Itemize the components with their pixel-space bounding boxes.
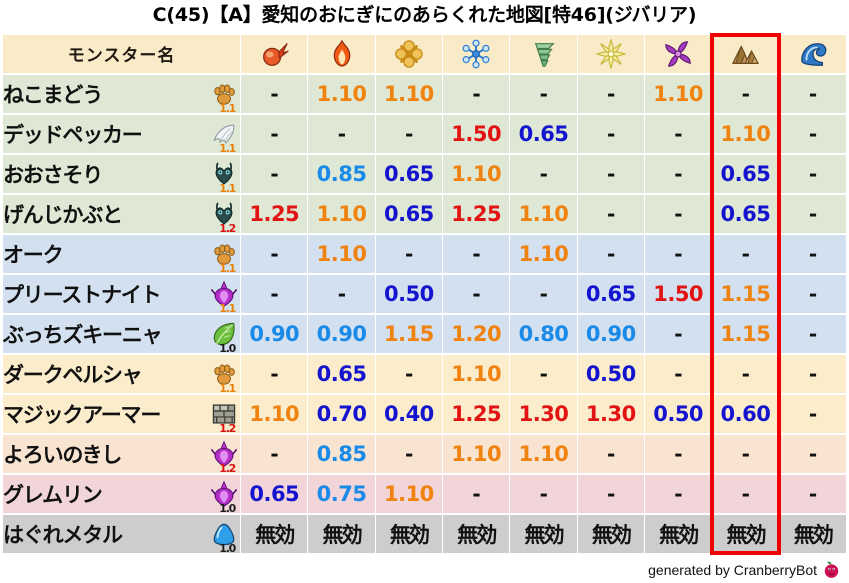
table-row: げんじかぶと1.21.251.100.651.251.10--0.65- [3,195,846,233]
table-row: デッドペッカー1.1---1.500.65--1.10- [3,115,846,153]
header-element-dorma[interactable] [645,35,711,73]
cell-jiwa: - [780,75,846,113]
lightburst-icon-wrap [578,35,644,73]
cell-gira: 0.85 [308,435,374,473]
monster-name-label: ぶっちズキーニャ [3,319,161,349]
table-row: マジックアーマー1.21.100.700.401.251.301.300.500… [3,395,846,433]
cell-jibaria: 0.65 [712,195,778,233]
cell-io: - [376,435,442,473]
darkspin-icon-wrap [645,35,711,73]
cell-gira: - [308,275,374,313]
cell-hyado: 無効 [443,515,509,553]
cell-dorma: 0.50 [645,395,711,433]
cell-io: - [376,115,442,153]
monster-family-badge: 1.1 [191,355,237,393]
cell-dorma: - [645,195,711,233]
monster-name-cell[interactable]: グレムリン1.0 [3,475,240,513]
cell-gira: 0.70 [308,395,374,433]
cell-jiwa: 無効 [780,515,846,553]
cell-jiwa: - [780,195,846,233]
monster-multiplier: 1.2 [219,223,235,233]
cell-jiwa: - [780,475,846,513]
cell-jibaria: - [712,435,778,473]
cell-jiwa: - [780,155,846,193]
wave-icon-wrap [780,35,846,73]
cell-dein: 無効 [578,515,644,553]
header-element-mera[interactable] [241,35,307,73]
cell-hyado: - [443,475,509,513]
cell-jiwa: - [780,235,846,273]
cell-hyado: 1.20 [443,315,509,353]
cell-mera: 1.25 [241,195,307,233]
monster-name-cell[interactable]: ぶっちズキーニャ1.0 [3,315,240,353]
cell-bagi: 無効 [510,515,576,553]
table-row: よろいのきし1.2-0.85-1.101.10---- [3,435,846,473]
cell-gira: 0.90 [308,315,374,353]
cell-bagi: 1.10 [510,435,576,473]
cell-gira: 1.10 [308,235,374,273]
monster-multiplier: 1.1 [219,143,235,153]
cell-dein: - [578,155,644,193]
monster-family-badge: 1.1 [191,115,237,153]
cell-dorma: 1.50 [645,275,711,313]
cell-hyado: - [443,275,509,313]
header-element-jibaria[interactable] [712,35,778,73]
cell-hyado: 1.25 [443,195,509,233]
monster-name-cell[interactable]: ねこまどう1.1 [3,75,240,113]
monster-family-badge: 1.1 [191,75,237,113]
cell-mera: - [241,275,307,313]
cell-jiwa: - [780,355,846,393]
cell-bagi: - [510,155,576,193]
cell-jibaria: - [712,235,778,273]
monster-name-label: オーク [3,239,62,269]
monster-family-badge: 1.1 [191,155,237,193]
monster-multiplier: 1.1 [219,303,235,313]
page-title: C(45)【A】愛知のおにぎにのあらくれた地図[特46](ジバリア) [0,0,849,33]
cell-io: 0.65 [376,195,442,233]
cell-jibaria: 1.15 [712,275,778,313]
mountain-icon [730,39,760,69]
monster-family-badge: 1.0 [191,475,237,513]
cell-jibaria: 1.10 [712,115,778,153]
monster-name-label: デッドペッカー [3,119,142,149]
cell-gira: 0.75 [308,475,374,513]
monster-name-label: ねこまどう [3,79,102,109]
monster-multiplier: 1.0 [219,343,235,353]
cell-hyado: 1.10 [443,155,509,193]
mountain-icon-wrap [712,35,778,73]
cell-dorma: - [645,155,711,193]
explosion-icon [394,39,424,69]
cell-gira: 0.65 [308,355,374,393]
monster-multiplier: 1.2 [219,463,235,473]
cell-dorma: - [645,315,711,353]
monster-name-label: ダークペルシャ [3,359,142,389]
cell-io: - [376,355,442,393]
cell-jibaria: 無効 [712,515,778,553]
flame-icon [327,39,357,69]
table-row: おおさそり1.1-0.850.651.10---0.65- [3,155,846,193]
cell-dorma: - [645,475,711,513]
cell-gira: - [308,115,374,153]
cell-dorma: - [645,115,711,153]
cell-bagi: - [510,355,576,393]
flame-icon-wrap [308,35,374,73]
cell-hyado: - [443,75,509,113]
cell-hyado: 1.50 [443,115,509,153]
cell-io: 0.50 [376,275,442,313]
monster-multiplier: 1.1 [219,383,235,393]
cell-jiwa: - [780,115,846,153]
darkspin-icon [663,39,693,69]
cell-bagi: 1.30 [510,395,576,433]
table-row: ぶっちズキーニャ1.00.900.901.151.200.800.90-1.15… [3,315,846,353]
cell-jibaria: - [712,355,778,393]
table-row: はぐれメタル1.0無効無効無効無効無効無効無効無効無効 [3,515,846,553]
cell-jibaria: 0.65 [712,155,778,193]
table-row: ねこまどう1.1-1.101.10---1.10-- [3,75,846,113]
cell-io: 0.40 [376,395,442,433]
footer-text: generated by CranberryBot [648,562,817,578]
monster-family-badge: 1.0 [191,315,237,353]
cell-dein: 1.30 [578,395,644,433]
table-row: グレムリン1.00.650.751.10------ [3,475,846,513]
table-body: ねこまどう1.1-1.101.10---1.10--デッドペッカー1.1---1… [3,75,846,553]
cell-gira: 1.10 [308,195,374,233]
cranberry-icon [822,560,841,579]
header-element-hyado[interactable] [443,35,509,73]
snowflake-icon-wrap [443,35,509,73]
cell-dein: - [578,435,644,473]
header-monster-name: モンスター名 [3,35,240,73]
cell-bagi: - [510,275,576,313]
monster-family-badge: 1.2 [191,395,237,433]
cell-dein: - [578,475,644,513]
cell-jibaria: - [712,475,778,513]
table-header-row: モンスター名 [3,35,846,73]
monster-family-badge: 1.2 [191,435,237,473]
monster-name-cell[interactable]: デッドペッカー1.1 [3,115,240,153]
cell-gira: 0.85 [308,155,374,193]
explosion-icon-wrap [376,35,442,73]
cell-bagi: 0.80 [510,315,576,353]
monster-name-label: グレムリン [3,479,102,509]
cell-bagi: - [510,475,576,513]
cell-jiwa: - [780,395,846,433]
cell-jibaria: 1.15 [712,315,778,353]
cell-io: 1.15 [376,315,442,353]
cell-bagi: - [510,75,576,113]
monster-multiplier: 1.0 [219,543,235,553]
monster-name-cell[interactable]: プリーストナイト1.1 [3,275,240,313]
cell-hyado: 1.10 [443,435,509,473]
cell-dein: - [578,115,644,153]
monster-name-label: おおさそり [3,159,102,189]
monster-name-cell[interactable]: よろいのきし1.2 [3,435,240,473]
monster-family-badge: 1.0 [191,515,237,553]
cell-mera: 0.65 [241,475,307,513]
cell-bagi: 1.10 [510,235,576,273]
cell-dein: - [578,75,644,113]
cell-io: - [376,235,442,273]
cell-bagi: 0.65 [510,115,576,153]
cell-dorma: 1.10 [645,75,711,113]
cell-dein: 0.65 [578,275,644,313]
table-row: オーク1.1-1.10--1.10---- [3,235,846,273]
cell-mera: - [241,155,307,193]
monster-family-badge: 1.2 [191,195,237,233]
cell-mera: 無効 [241,515,307,553]
lightburst-icon [596,39,626,69]
table-row: ダークペルシャ1.1-0.65-1.10-0.50--- [3,355,846,393]
snowflake-icon [461,39,491,69]
cell-jiwa: - [780,275,846,313]
tornado-icon-wrap [510,35,576,73]
cell-hyado: - [443,235,509,273]
monster-name-label: プリーストナイト [3,279,160,309]
cell-jiwa: - [780,315,846,353]
cell-mera: - [241,75,307,113]
wave-icon [798,39,828,69]
cell-io: 無効 [376,515,442,553]
fireball-icon-wrap [241,35,307,73]
cell-jibaria: 0.60 [712,395,778,433]
cell-mera: 1.10 [241,395,307,433]
cell-gira: 無効 [308,515,374,553]
cell-jibaria: - [712,75,778,113]
cell-io: 1.10 [376,475,442,513]
cell-bagi: 1.10 [510,195,576,233]
monster-name-cell[interactable]: おおさそり1.1 [3,155,240,193]
cell-hyado: 1.25 [443,395,509,433]
cell-mera: - [241,435,307,473]
cell-dorma: - [645,355,711,393]
monster-name-label: げんじかぶと [3,199,122,229]
monster-multiplier: 1.0 [219,503,235,513]
cell-hyado: 1.10 [443,355,509,393]
cell-gira: 1.10 [308,75,374,113]
cell-mera: - [241,115,307,153]
cell-io: 0.65 [376,155,442,193]
cell-dorma: - [645,235,711,273]
monster-multiplier: 1.1 [219,183,235,193]
monster-family-badge: 1.1 [191,275,237,313]
cell-dorma: 無効 [645,515,711,553]
monster-family-badge: 1.1 [191,235,237,273]
monster-name-cell[interactable]: はぐれメタル1.0 [3,515,240,553]
header-element-jiwa[interactable] [780,35,846,73]
cell-dorma: - [645,435,711,473]
footer-credit: generated by CranberryBot [648,560,841,579]
header-element-gira[interactable] [308,35,374,73]
cell-dein: - [578,235,644,273]
header-element-bagi[interactable] [510,35,576,73]
damage-table-page: C(45)【A】愛知のおにぎにのあらくれた地図[特46](ジバリア) モンスター… [0,0,849,583]
cell-mera: - [241,355,307,393]
cell-dein: 0.90 [578,315,644,353]
monster-multiplier: 1.1 [219,263,235,273]
monster-name-label: マジックアーマー [3,399,160,429]
monster-name-label: よろいのきし [3,439,121,469]
monster-multiplier: 1.2 [219,423,235,433]
monster-name-cell[interactable]: げんじかぶと1.2 [3,195,240,233]
tornado-icon [529,39,559,69]
cell-dein: - [578,195,644,233]
header-element-dein[interactable] [578,35,644,73]
cell-io: 1.10 [376,75,442,113]
monster-multiplier: 1.1 [219,103,235,113]
fireball-icon [259,39,289,69]
monster-name-cell[interactable]: ダークペルシャ1.1 [3,355,240,393]
monster-name-cell[interactable]: マジックアーマー1.2 [3,395,240,433]
cell-jiwa: - [780,435,846,473]
table-row: プリーストナイト1.1--0.50--0.651.501.15- [3,275,846,313]
header-element-io[interactable] [376,35,442,73]
cell-dein: 0.50 [578,355,644,393]
monster-name-label: はぐれメタル [3,519,122,549]
cell-mera: - [241,235,307,273]
cell-mera: 0.90 [241,315,307,353]
monster-name-cell[interactable]: オーク1.1 [3,235,240,273]
resistance-table: モンスター名 ねこまどう1.1-1.101.10---1.10--デッドペッカー… [2,33,847,555]
